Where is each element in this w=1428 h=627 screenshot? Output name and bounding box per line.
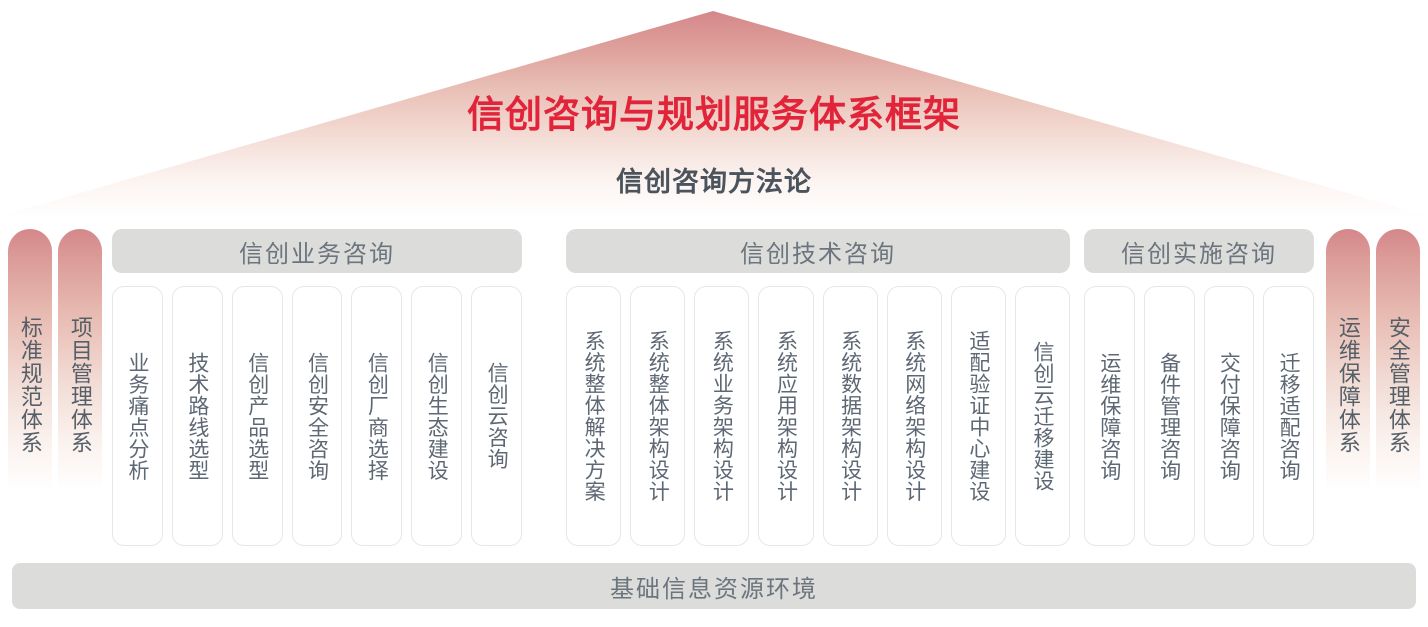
card-label: 系统业务架构设计: [710, 330, 733, 502]
group-title: 信创业务咨询: [239, 234, 395, 269]
group-header-technical[interactable]: 信创技术咨询: [566, 229, 1070, 273]
card-label: 运维保障咨询: [1098, 352, 1121, 481]
card-list-business: 业务痛点分析 技术路线选型 信创产品选型 信创安全咨询 信创厂商选择 信创生态建…: [112, 286, 522, 546]
list-item[interactable]: 信创安全咨询: [292, 286, 343, 546]
card-label: 系统数据架构设计: [839, 330, 862, 502]
card-list-technical: 系统整体解决方案 系统整体架构设计 系统业务架构设计 系统应用架构设计 系统数据…: [566, 286, 1070, 546]
card-label: 业务痛点分析: [126, 352, 149, 481]
diagram-canvas: 信创咨询与规划服务体系框架 信创咨询方法论 标准规范体系 项目管理体系 运维保障…: [0, 0, 1428, 627]
card-label: 信创厂商选择: [365, 352, 388, 481]
group-implementation-consulting: 信创实施咨询 运维保障咨询 备件管理咨询 交付保障咨询 迁移适配咨询: [1084, 229, 1314, 546]
group-header-business[interactable]: 信创业务咨询: [112, 229, 522, 273]
list-item[interactable]: 系统业务架构设计: [694, 286, 749, 546]
card-label: 技术路线选型: [186, 352, 209, 481]
pillar-right-security-management[interactable]: 安全管理体系: [1376, 229, 1420, 549]
list-item[interactable]: 信创生态建设: [411, 286, 462, 546]
card-label: 信创安全咨询: [305, 352, 328, 481]
list-item[interactable]: 信创云咨询: [471, 286, 522, 546]
list-item[interactable]: 迁移适配咨询: [1263, 286, 1314, 546]
card-label: 交付保障咨询: [1217, 352, 1240, 481]
group-title: 信创技术咨询: [740, 234, 896, 269]
group-business-consulting: 信创业务咨询 业务痛点分析 技术路线选型 信创产品选型 信创安全咨询 信创厂商选…: [112, 229, 522, 546]
group-technical-consulting: 信创技术咨询 系统整体解决方案 系统整体架构设计 系统业务架构设计 系统应用架构…: [566, 229, 1070, 546]
list-item[interactable]: 信创产品选型: [232, 286, 283, 546]
pillar-left-project-management[interactable]: 项目管理体系: [58, 229, 102, 549]
list-item[interactable]: 系统网络架构设计: [887, 286, 942, 546]
card-label: 信创云咨询: [485, 362, 508, 470]
list-item[interactable]: 技术路线选型: [172, 286, 223, 546]
pillar-left-standard-spec[interactable]: 标准规范体系: [8, 229, 52, 549]
list-item[interactable]: 备件管理咨询: [1144, 286, 1195, 546]
pillar-label: 安全管理体系: [1386, 316, 1410, 454]
list-item[interactable]: 系统整体解决方案: [566, 286, 621, 546]
group-title: 信创实施咨询: [1121, 234, 1277, 269]
list-item[interactable]: 信创云迁移建设: [1015, 286, 1070, 546]
base-bar-label: 基础信息资源环境: [610, 569, 818, 604]
card-label: 适配验证中心建设: [967, 330, 990, 502]
card-label: 系统整体解决方案: [582, 330, 605, 502]
list-item[interactable]: 系统整体架构设计: [630, 286, 685, 546]
card-label: 信创生态建设: [425, 352, 448, 481]
list-item[interactable]: 交付保障咨询: [1204, 286, 1255, 546]
pillar-label: 标准规范体系: [18, 316, 42, 454]
list-item[interactable]: 系统数据架构设计: [823, 286, 878, 546]
card-label: 系统整体架构设计: [646, 330, 669, 502]
list-item[interactable]: 系统应用架构设计: [758, 286, 813, 546]
card-label: 系统应用架构设计: [774, 330, 797, 502]
page-title: 信创咨询与规划服务体系框架: [0, 95, 1428, 136]
card-label: 备件管理咨询: [1158, 352, 1181, 481]
card-label: 信创产品选型: [246, 352, 269, 481]
pillar-right-ops-guarantee[interactable]: 运维保障体系: [1326, 229, 1370, 549]
card-label: 系统网络架构设计: [903, 330, 926, 502]
card-label: 信创云迁移建设: [1031, 341, 1054, 492]
list-item[interactable]: 业务痛点分析: [112, 286, 163, 546]
card-list-implementation: 运维保障咨询 备件管理咨询 交付保障咨询 迁移适配咨询: [1084, 286, 1314, 546]
page-subtitle: 信创咨询方法论: [0, 168, 1428, 198]
list-item[interactable]: 适配验证中心建设: [951, 286, 1006, 546]
group-header-implementation[interactable]: 信创实施咨询: [1084, 229, 1314, 273]
list-item[interactable]: 运维保障咨询: [1084, 286, 1135, 546]
card-label: 迁移适配咨询: [1277, 352, 1300, 481]
pillar-label: 项目管理体系: [68, 316, 92, 454]
base-bar[interactable]: 基础信息资源环境: [12, 563, 1416, 609]
pillar-label: 运维保障体系: [1336, 316, 1360, 454]
list-item[interactable]: 信创厂商选择: [351, 286, 402, 546]
